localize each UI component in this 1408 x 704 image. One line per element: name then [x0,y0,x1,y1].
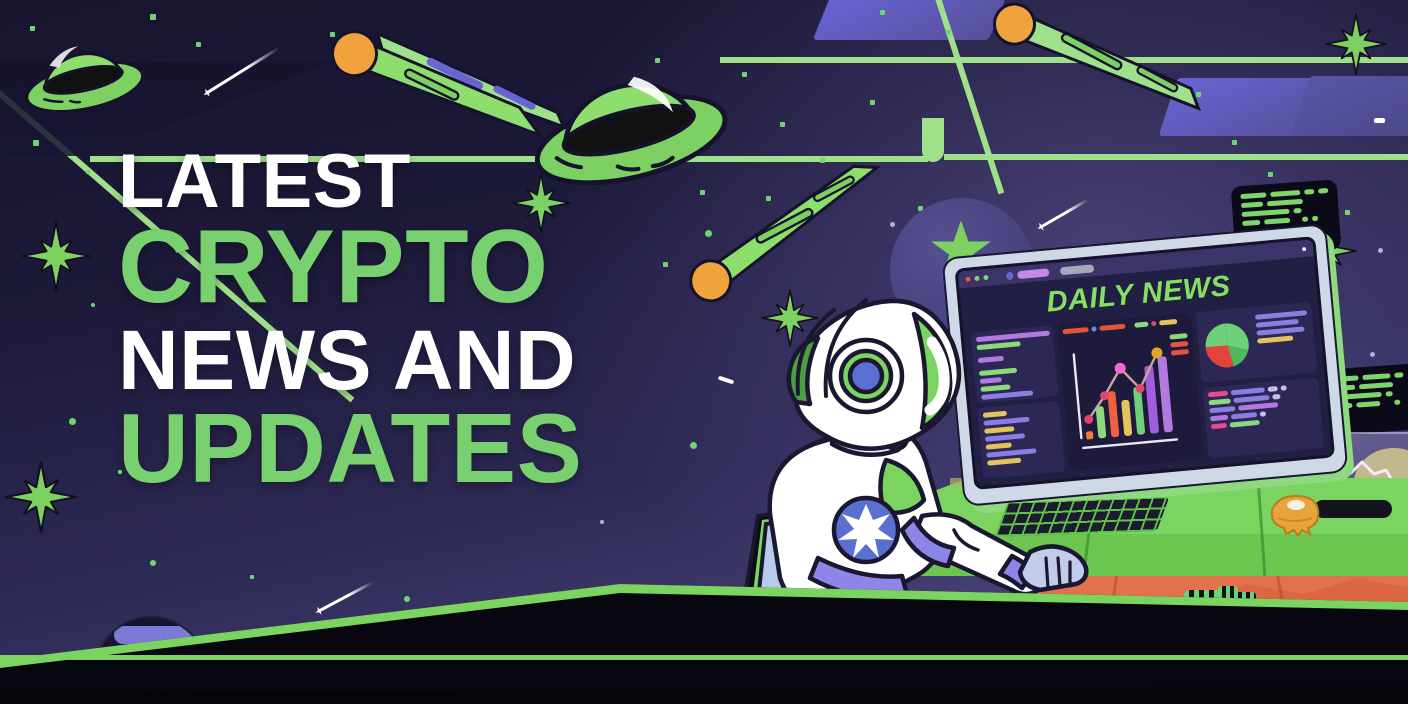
pie-chart [1201,319,1253,371]
data-bar [1231,412,1257,419]
star-dot [1232,140,1237,145]
data-bar [1260,411,1266,417]
star-dot [780,122,785,127]
browser-tab[interactable] [1017,268,1050,279]
star-dot [91,303,95,307]
data-bar [1151,321,1156,326]
star-dot [196,42,201,47]
star-dot [1378,248,1383,253]
ship-window-pane-right-2 [1290,76,1408,136]
star-dot [150,560,156,566]
star-dot [890,222,895,227]
ship-beam-joint [922,118,944,162]
floor-edge-highlight [0,655,1408,660]
data-bar [1208,398,1230,405]
shooting-star-icon [1039,198,1089,229]
star-dot [690,442,697,449]
data-bar [1211,423,1227,429]
headline-line-updates: UPDATES [118,402,583,494]
data-bar [1267,386,1277,392]
star-dot [1268,172,1273,177]
sparkle-star-icon [1326,14,1386,74]
data-bar [1170,341,1188,348]
star-dot [742,72,747,77]
headline-line-news-and: NEWS AND [118,321,583,400]
comet-icon [979,0,1207,143]
star-dot [69,418,76,425]
star-dot [600,520,604,524]
dashboard-right-column [1195,302,1324,459]
terminal-row [1336,389,1408,400]
star-dot [766,196,771,201]
star-dot [820,158,825,163]
data-bar [1255,310,1307,320]
sparkle-star-icon [6,462,76,532]
data-bar [1231,387,1265,395]
star-dot [663,262,668,267]
ship-window-pane-left [813,0,1008,40]
sparkle-star-icon [22,222,90,290]
window-minimize-dot[interactable] [974,276,979,281]
list-card[interactable] [1202,377,1324,458]
star-dot [700,190,705,195]
data-bar [1209,406,1235,413]
data-bar [1134,322,1148,328]
data-bar [1169,333,1187,340]
url-bar[interactable] [1060,264,1095,275]
pie-card[interactable] [1195,302,1317,383]
tab-marker[interactable] [1006,271,1014,280]
window-maximize-dot[interactable] [983,275,988,280]
terminal-row [1335,380,1408,391]
hero-banner: LATEST CRYPTO NEWS AND UPDATES [0,0,1408,704]
gold-coin-icon [1266,490,1324,541]
chrome-menu-dot[interactable] [1302,246,1306,250]
star-dot [33,140,39,146]
window-indicator [1374,118,1385,123]
headline-line-crypto: CRYPTO [118,219,583,317]
data-bar [1256,326,1304,335]
star-dot [1370,352,1375,357]
data-bar [1257,335,1294,343]
floor [0,574,1408,704]
terminal-row [1334,371,1408,382]
data-bar [1159,319,1177,326]
console-slot [1314,500,1392,518]
ship-beam-lower-right [944,154,1408,160]
star-dot [870,100,875,105]
star-dot [30,26,35,31]
star-dot [880,10,885,15]
data-bar [1210,415,1228,422]
window-close-dot[interactable] [965,276,970,281]
headline-line-latest: LATEST [118,146,583,217]
star-dot [150,14,156,20]
data-bar [1280,385,1286,391]
headline: LATEST CRYPTO NEWS AND UPDATES [118,146,583,494]
star-dot [946,30,951,35]
data-bar [1208,391,1228,398]
star-dot [1345,210,1350,215]
data-bar [1272,394,1280,400]
data-bar [1171,349,1189,356]
star-dot [86,170,90,174]
star-dot [705,230,712,237]
terminal-row [1336,398,1408,409]
